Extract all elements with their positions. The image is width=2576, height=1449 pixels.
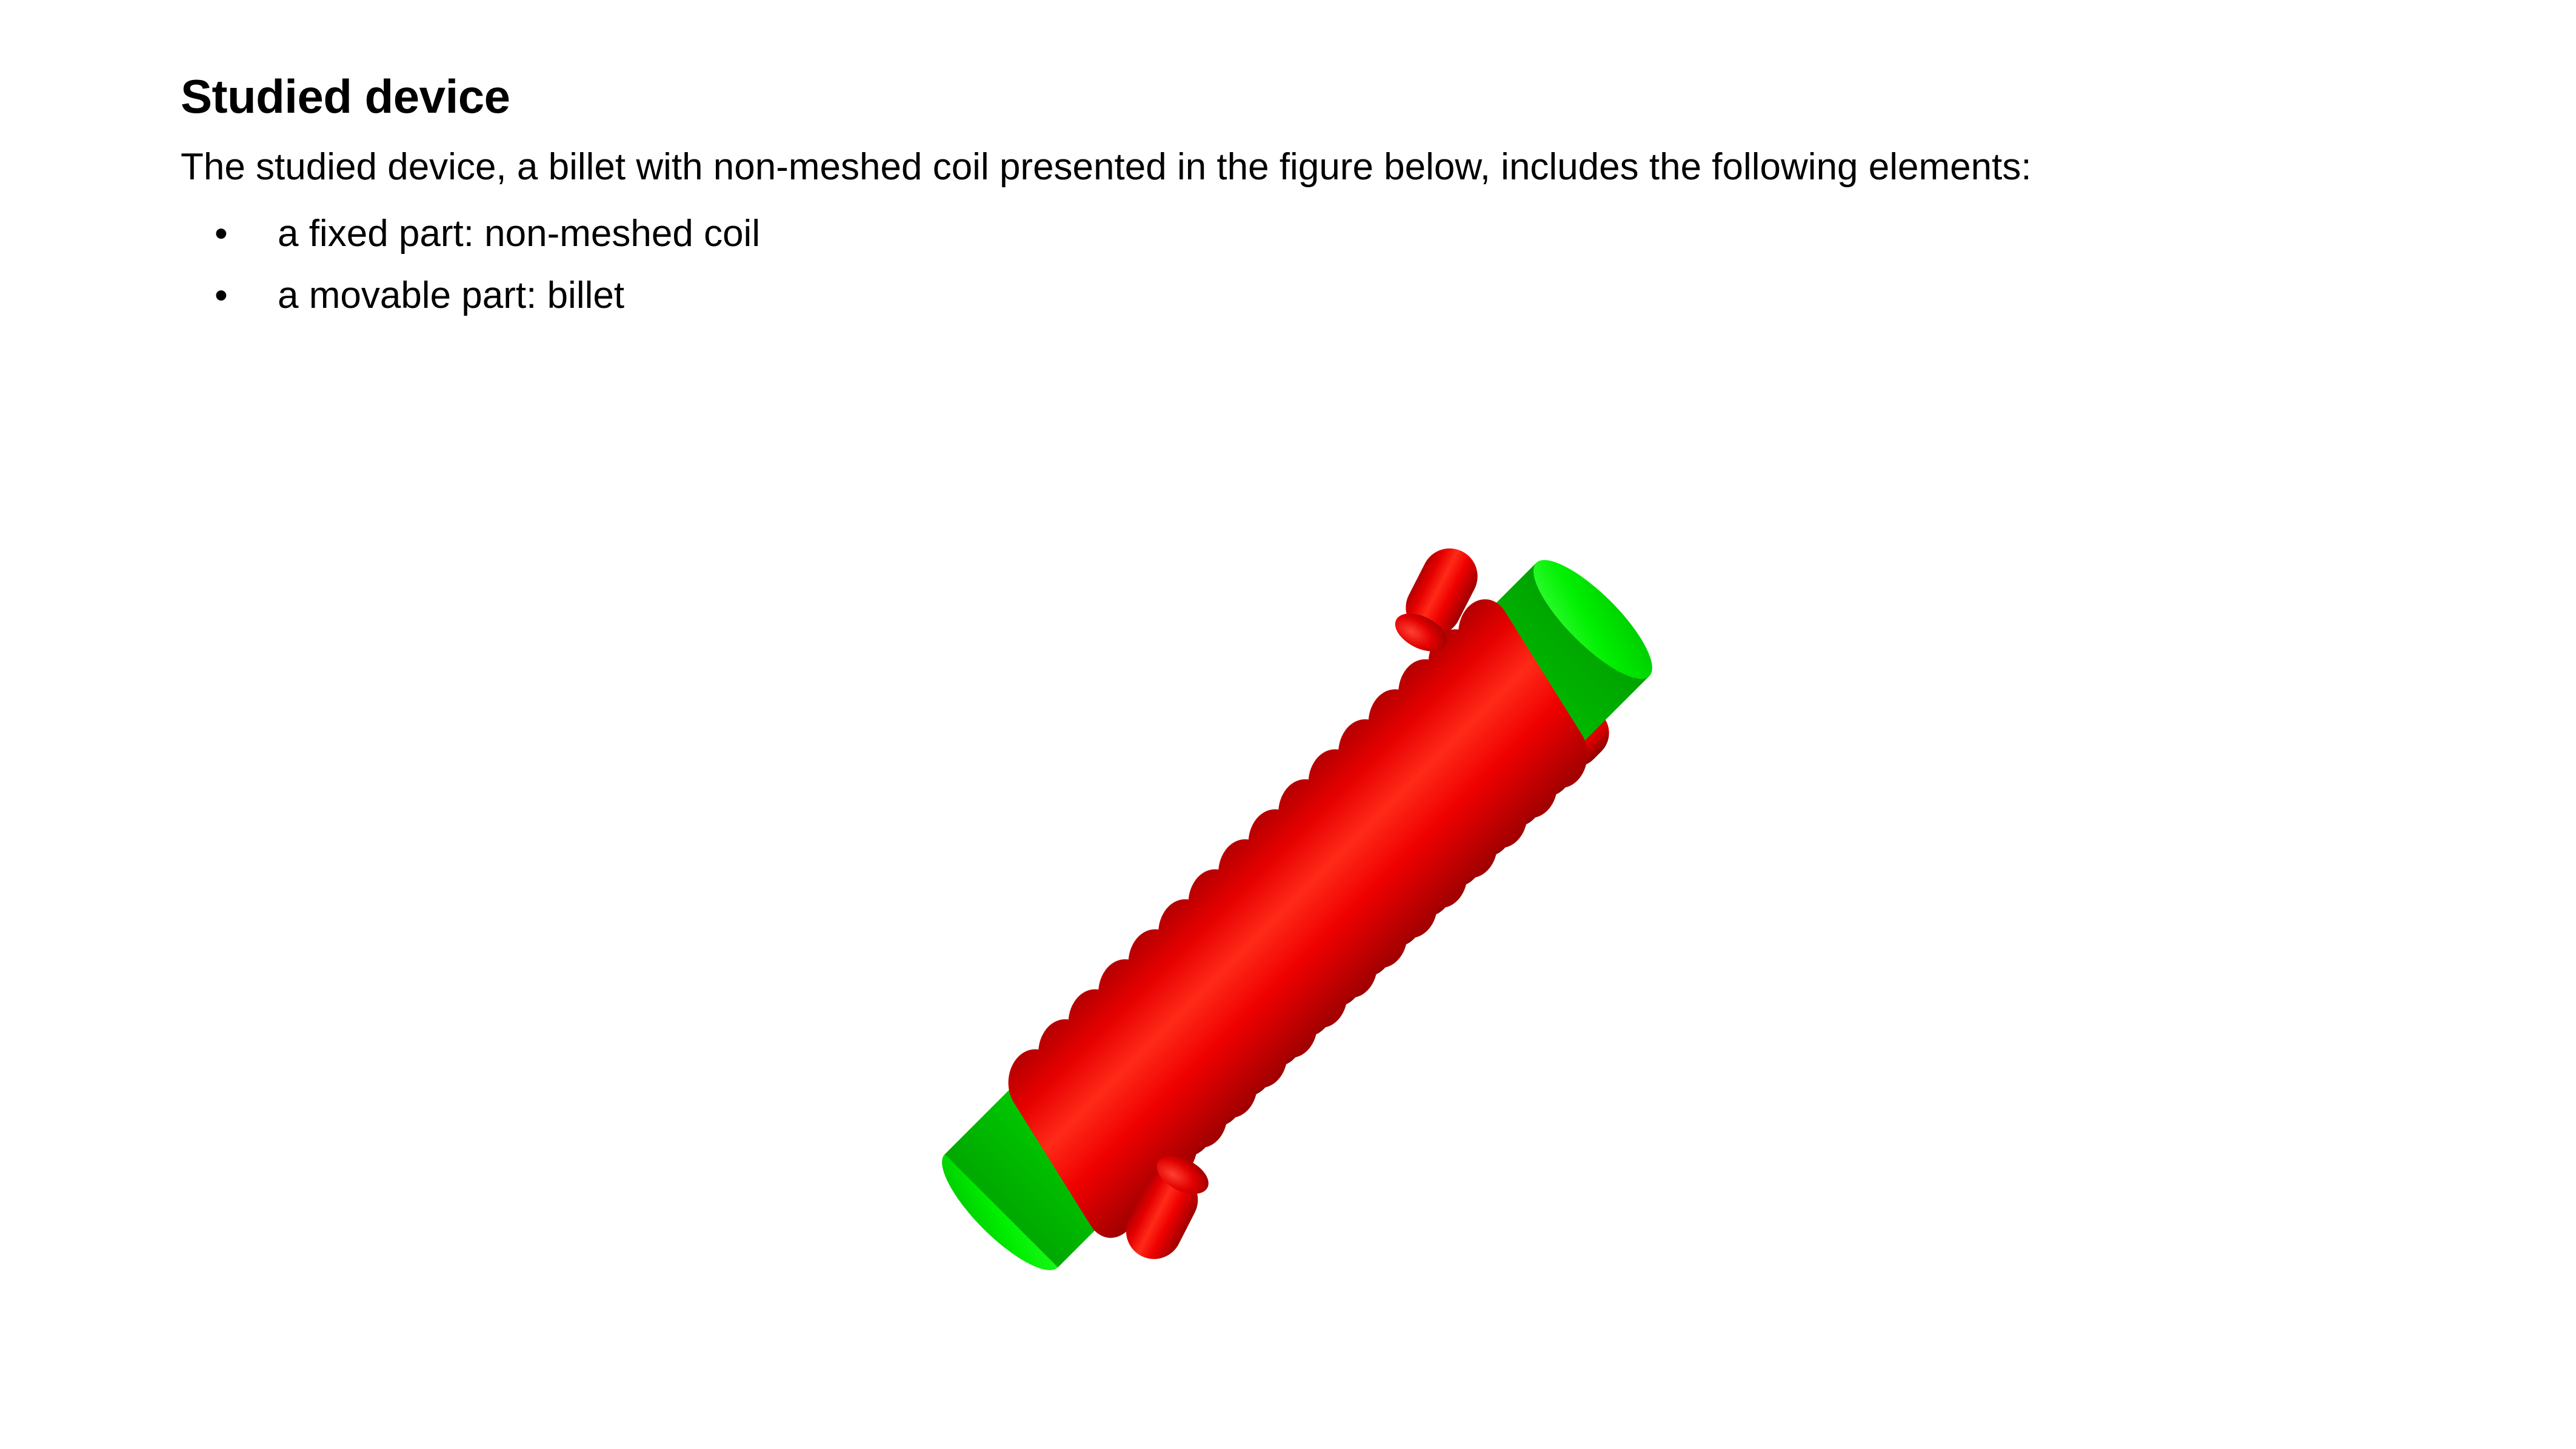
device-parts-list: • a fixed part: non-meshed coil • a mova… bbox=[181, 207, 2375, 322]
list-item: • a fixed part: non-meshed coil bbox=[181, 207, 2375, 261]
list-item-label: a fixed part: non-meshed coil bbox=[278, 213, 760, 255]
intro-paragraph: The studied device, a billet with non-me… bbox=[181, 141, 2363, 194]
bullet-point-icon: • bbox=[215, 269, 228, 322]
billet-coil-3d-render bbox=[843, 448, 1752, 1382]
list-item-label: a movable part: billet bbox=[278, 275, 624, 316]
coil-front-turns bbox=[966, 586, 1631, 1251]
page-title: Studied device bbox=[181, 73, 2375, 120]
device-figure bbox=[843, 448, 1752, 1382]
text-content: Studied device The studied device, a bil… bbox=[181, 73, 2375, 331]
list-item: • a movable part: billet bbox=[181, 269, 2375, 322]
document-page: Studied device The studied device, a bil… bbox=[0, 0, 2576, 1449]
bullet-point-icon: • bbox=[215, 207, 228, 261]
